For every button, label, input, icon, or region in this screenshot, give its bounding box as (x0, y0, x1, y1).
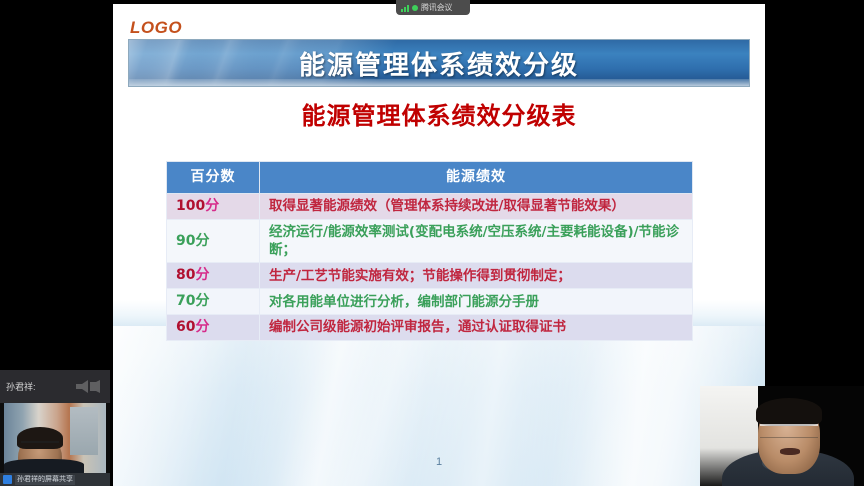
score-unit: 分 (195, 233, 209, 249)
cell-score: 90分 (167, 219, 260, 262)
score-unit: 分 (195, 293, 209, 309)
cell-score: 80分 (167, 263, 260, 289)
score-number: 80 (176, 267, 195, 283)
performance-grading-table: 百分数 能源绩效 100分 取得显著能源绩效（管理体系持续改进/取得显著节能效果… (166, 161, 693, 341)
tencent-meeting-badge[interactable]: 腾讯会议 (396, 0, 470, 15)
video-person-shoulders (4, 459, 84, 473)
cell-description: 经济运行/能源效率测试(变配电系统/空压系统/主要耗能设备)/节能诊断； (260, 219, 693, 262)
cell-description: 编制公司级能源初始评审报告，通过认证取得证书 (260, 315, 693, 341)
video-background-door (70, 407, 98, 455)
score-number: 70 (176, 293, 195, 309)
column-header-performance: 能源绩效 (260, 162, 693, 194)
participant-name-bar: 孙君祥: (0, 370, 110, 403)
slide-title-text: 能源管理体系绩效分级 (299, 45, 579, 82)
participant-name-label: 孙君祥: (6, 380, 36, 393)
score-unit: 分 (195, 267, 209, 283)
slide-title-banner: 能源管理体系绩效分级 (128, 39, 750, 87)
column-header-score: 百分数 (167, 162, 260, 194)
video-person-glasses (760, 424, 818, 438)
slide-page-number: 1 (113, 456, 765, 468)
score-number: 100 (176, 198, 205, 214)
video-person-mouth (780, 448, 800, 455)
participant-video-left (4, 403, 106, 473)
score-number: 60 (176, 319, 195, 335)
score-number: 90 (176, 233, 195, 249)
table-row: 90分 经济运行/能源效率测试(变配电系统/空压系统/主要耗能设备)/节能诊断； (167, 219, 693, 262)
table-row: 100分 取得显著能源绩效（管理体系持续改进/取得显著节能效果） (167, 194, 693, 220)
table-row: 70分 对各用能单位进行分析，编制部门能源分手册 (167, 289, 693, 315)
table-row: 60分 编制公司级能源初始评审报告，通过认证取得证书 (167, 315, 693, 341)
participant-avatar-icon (3, 475, 12, 484)
meeting-badge-label: 腾讯会议 (421, 0, 452, 15)
status-dot-icon (412, 5, 418, 11)
screen-share-label: 孙君祥的屏幕共享 (15, 475, 75, 485)
meeting-stage: 腾讯会议 LOGO 能源管理体系绩效分级 能源管理体系绩效分级表 百分数 能源绩… (0, 0, 864, 486)
table-row: 80分 生产/工艺节能实施有效；节能操作得到贯彻制定； (167, 263, 693, 289)
score-unit: 分 (195, 319, 209, 335)
slide-sub-heading: 能源管理体系绩效分级表 (113, 96, 765, 131)
signal-bars-icon (401, 4, 409, 12)
table-header-row: 百分数 能源绩效 (167, 162, 693, 194)
screen-share-status-bar[interactable]: 孙君祥的屏幕共享 (0, 473, 110, 486)
speaker-icon (74, 380, 100, 393)
left-participant-tile[interactable]: 孙君祥: 孙君祥的屏幕共享 (0, 370, 110, 486)
video-person-hair (756, 398, 822, 426)
right-participant-video[interactable] (700, 386, 864, 486)
cell-description: 取得显著能源绩效（管理体系持续改进/取得显著节能效果） (260, 194, 693, 220)
video-person-glasses (21, 441, 59, 451)
shared-slide: LOGO 能源管理体系绩效分级 能源管理体系绩效分级表 百分数 能源绩效 100… (113, 4, 765, 486)
score-unit: 分 (205, 198, 219, 214)
cell-description: 生产/工艺节能实施有效；节能操作得到贯彻制定； (260, 263, 693, 289)
cell-description: 对各用能单位进行分析，编制部门能源分手册 (260, 289, 693, 315)
cell-score: 60分 (167, 315, 260, 341)
cell-score: 70分 (167, 289, 260, 315)
cell-score: 100分 (167, 194, 260, 220)
table-head: 百分数 能源绩效 (167, 162, 693, 194)
slide-logo: LOGO (130, 18, 182, 38)
table-body: 100分 取得显著能源绩效（管理体系持续改进/取得显著节能效果） 90分 经济运… (167, 194, 693, 341)
